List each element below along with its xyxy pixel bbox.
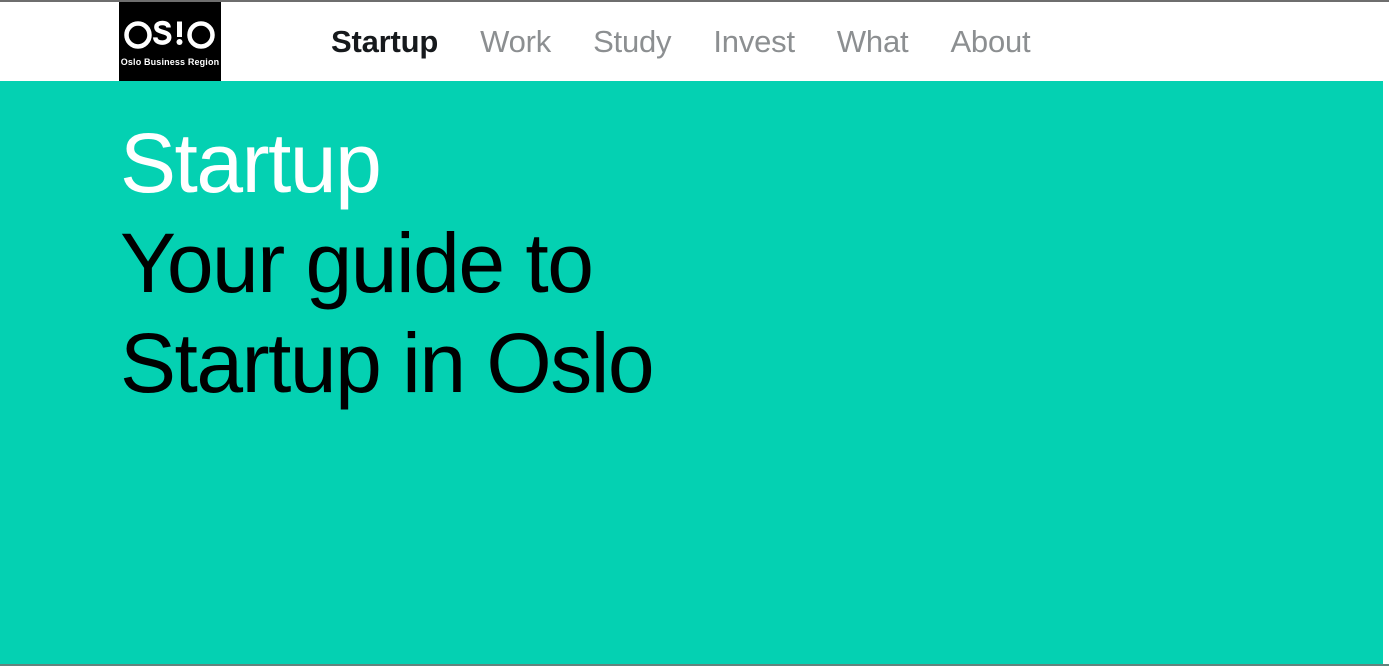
nav-item-startup[interactable]: Startup [331,26,438,57]
hero-heading: Startup Your guide to Startup in Oslo [120,113,653,413]
site-header: Oslo Business Region Startup Work Study … [0,2,1389,81]
nav-item-what[interactable]: What [837,26,909,57]
nav-item-study[interactable]: Study [593,26,671,57]
browser-viewport: Oslo Business Region Startup Work Study … [0,0,1389,666]
logo-tagline: Oslo Business Region [119,57,221,67]
hero-title-line-1: Your guide to [120,213,653,313]
hero-title-line-2: Startup in Oslo [120,313,653,413]
nav-item-work[interactable]: Work [480,26,551,57]
hero-section: Startup Your guide to Startup in Oslo [0,81,1383,664]
oslo-logo-icon [119,15,221,53]
nav-item-about[interactable]: About [950,26,1030,57]
oslo-business-region-logo[interactable]: Oslo Business Region [119,2,221,81]
hero-eyebrow: Startup [120,113,653,213]
main-navigation: Startup Work Study Invest What About [331,2,1030,81]
nav-item-invest[interactable]: Invest [713,26,795,57]
browser-chrome-top-edge [0,0,1389,2]
